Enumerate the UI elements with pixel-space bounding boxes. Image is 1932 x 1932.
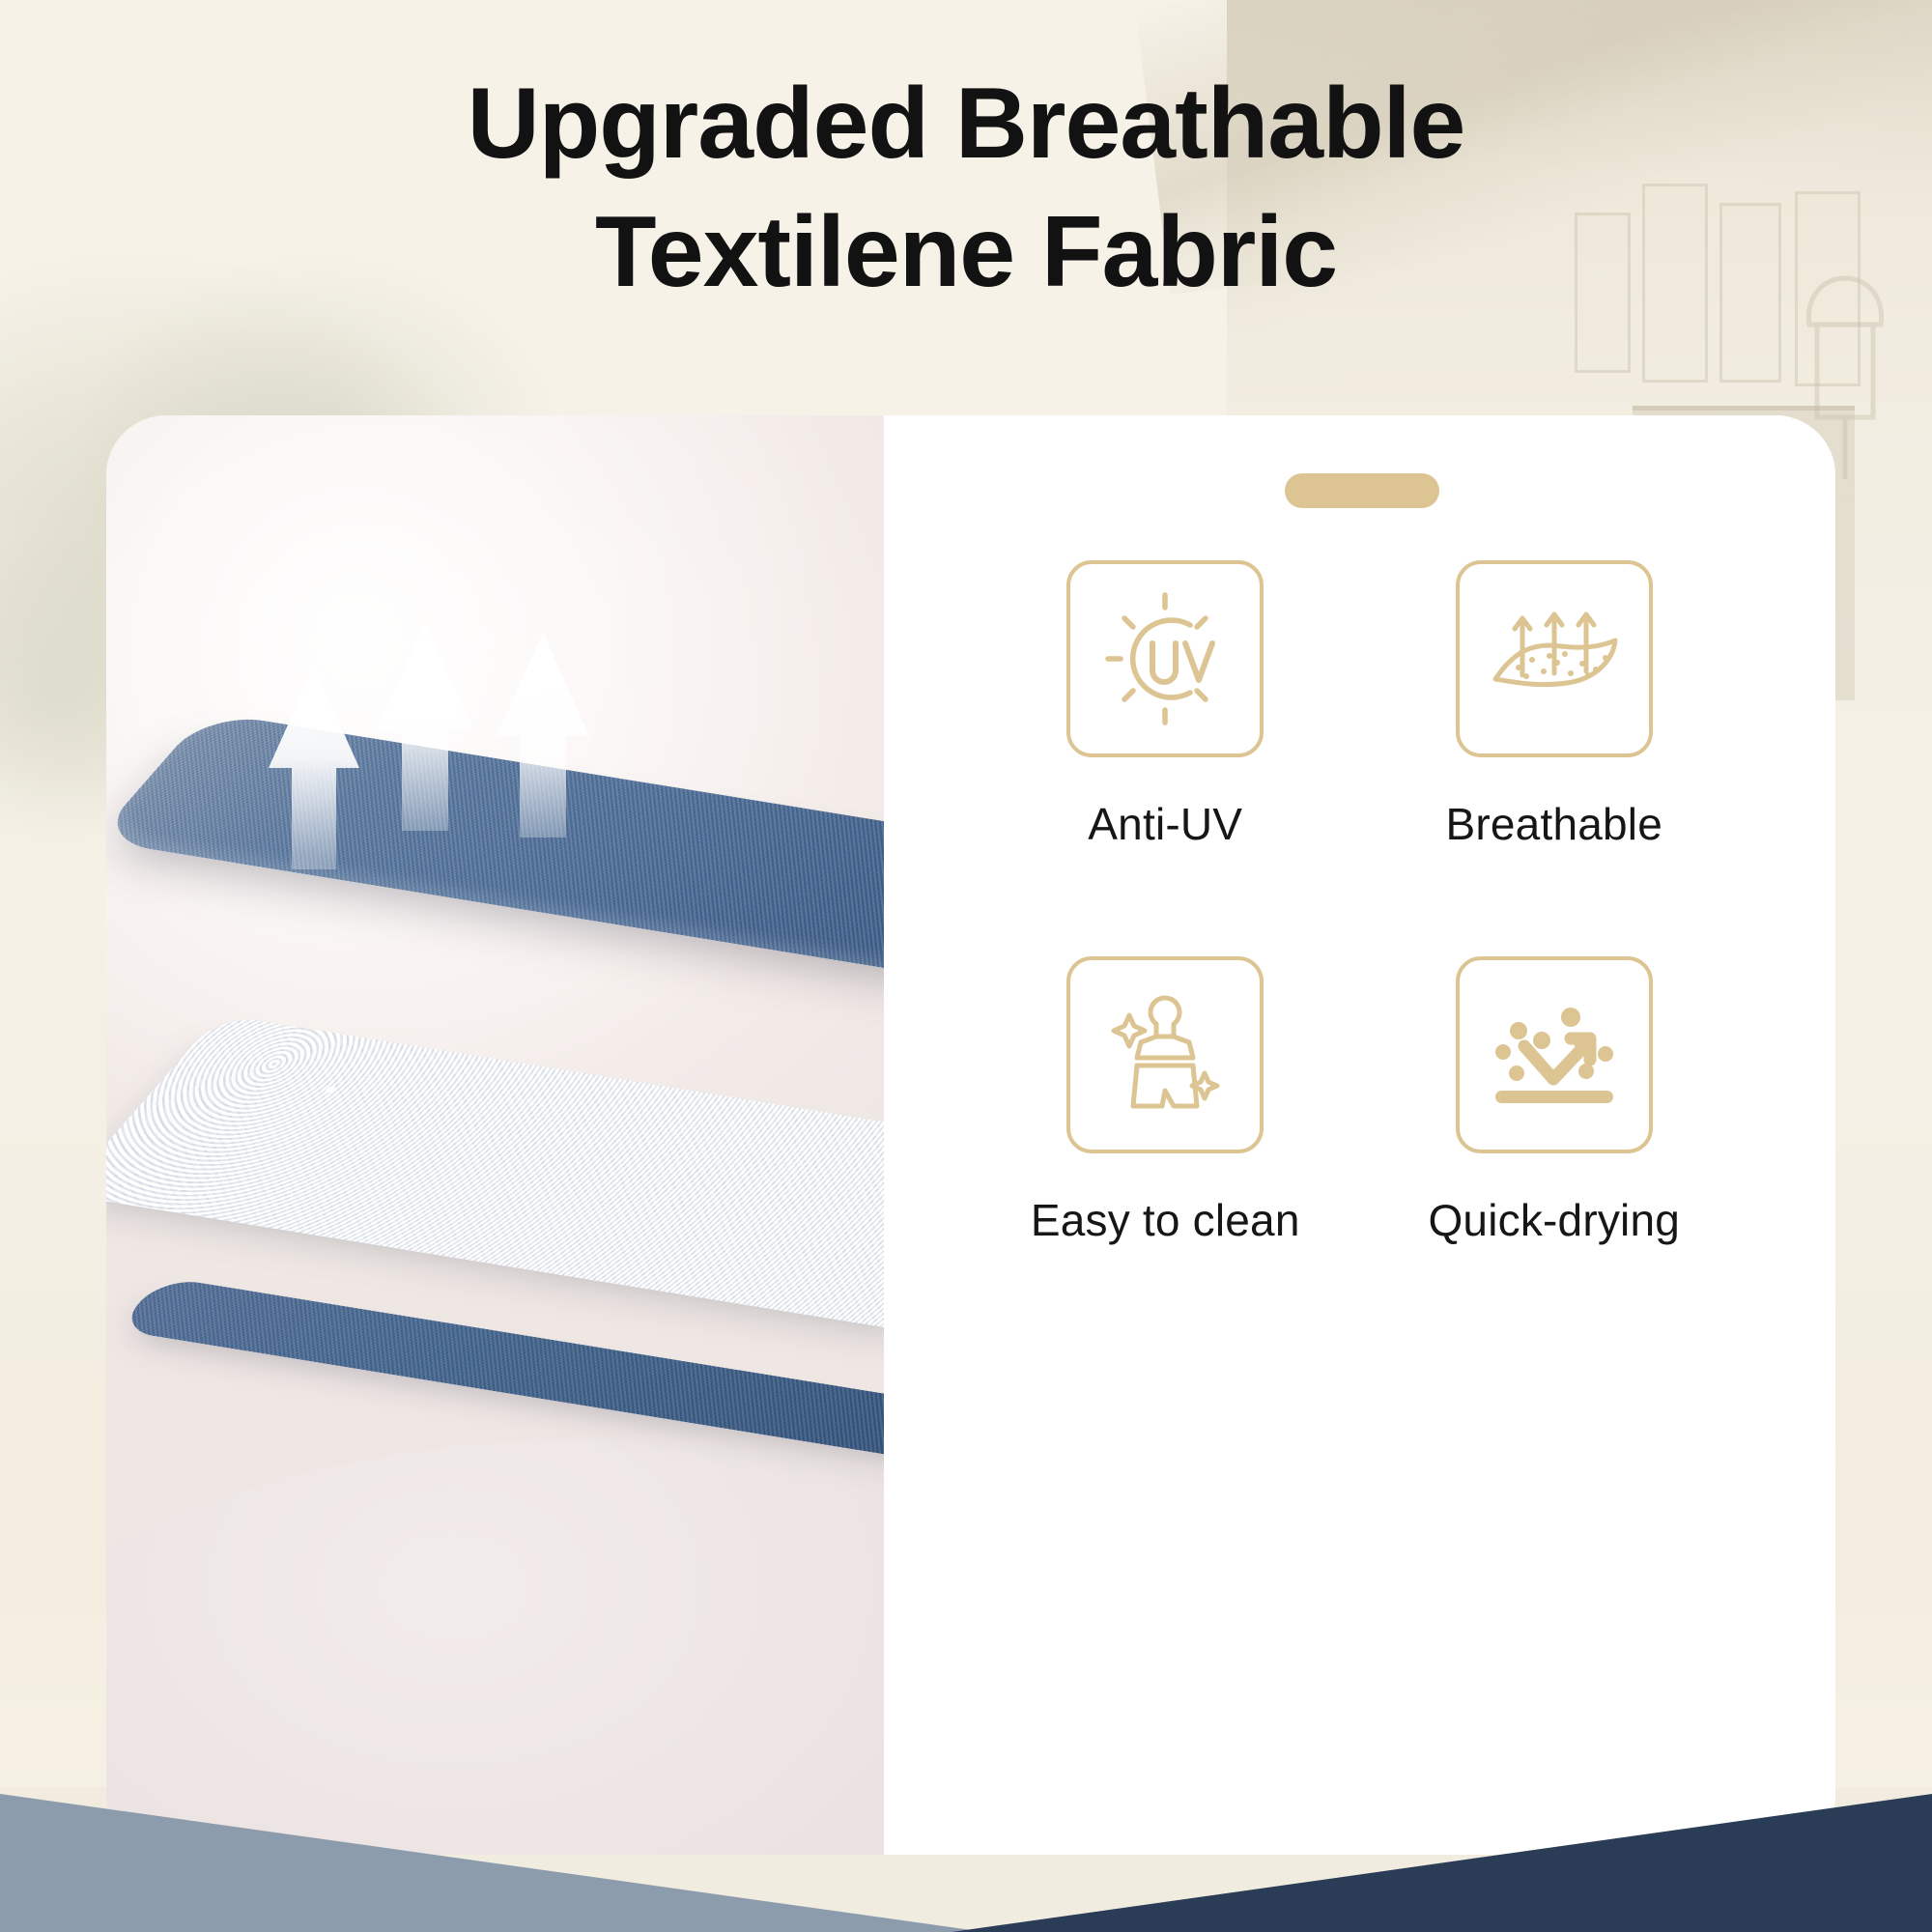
feature-panel: Anti-UV xyxy=(884,415,1835,1855)
feature-item-quick-drying[interactable]: Quick-drying xyxy=(1360,956,1749,1246)
feature-label-breathable: Breathable xyxy=(1446,798,1663,850)
brush-sparkle-icon xyxy=(1093,982,1237,1127)
title-line-1: Upgraded Breathable xyxy=(468,68,1465,180)
easy-to-clean-icon-box xyxy=(1066,956,1264,1153)
photo-floor-shadow xyxy=(106,1439,884,1855)
title-line-2: Textilene Fabric xyxy=(0,188,1932,317)
feature-grid: Anti-UV xyxy=(884,560,1835,1246)
decor-triangle-left xyxy=(0,1794,985,1932)
feature-label-anti-uv: Anti-UV xyxy=(1088,798,1242,850)
anti-uv-sun-icon xyxy=(1093,586,1237,731)
product-photo xyxy=(106,415,884,1855)
anti-uv-icon-box xyxy=(1066,560,1264,757)
feature-item-anti-uv[interactable]: Anti-UV xyxy=(971,560,1360,850)
feature-label-quick-drying: Quick-drying xyxy=(1428,1194,1680,1246)
feature-label-easy-to-clean: Easy to clean xyxy=(1031,1194,1300,1246)
page-title: Upgraded Breathable Textilene Fabric xyxy=(0,60,1932,317)
infographic-stage: Upgraded Breathable Textilene Fabric xyxy=(0,0,1932,1932)
decor-triangle-right xyxy=(952,1794,1932,1932)
quick-drying-icon-box xyxy=(1456,956,1653,1153)
water-bounce-droplets-icon xyxy=(1482,982,1627,1127)
fabric-layer-top xyxy=(106,712,884,980)
feature-item-breathable[interactable]: Breathable xyxy=(1360,560,1749,850)
feature-card: Anti-UV xyxy=(106,415,1835,1855)
fabric-layer-mesh xyxy=(106,1014,884,1333)
accent-bar xyxy=(1285,473,1439,508)
breathable-icon-box xyxy=(1456,560,1653,757)
feature-item-easy-to-clean[interactable]: Easy to clean xyxy=(971,956,1360,1246)
breathable-fabric-arrows-icon xyxy=(1482,586,1627,731)
